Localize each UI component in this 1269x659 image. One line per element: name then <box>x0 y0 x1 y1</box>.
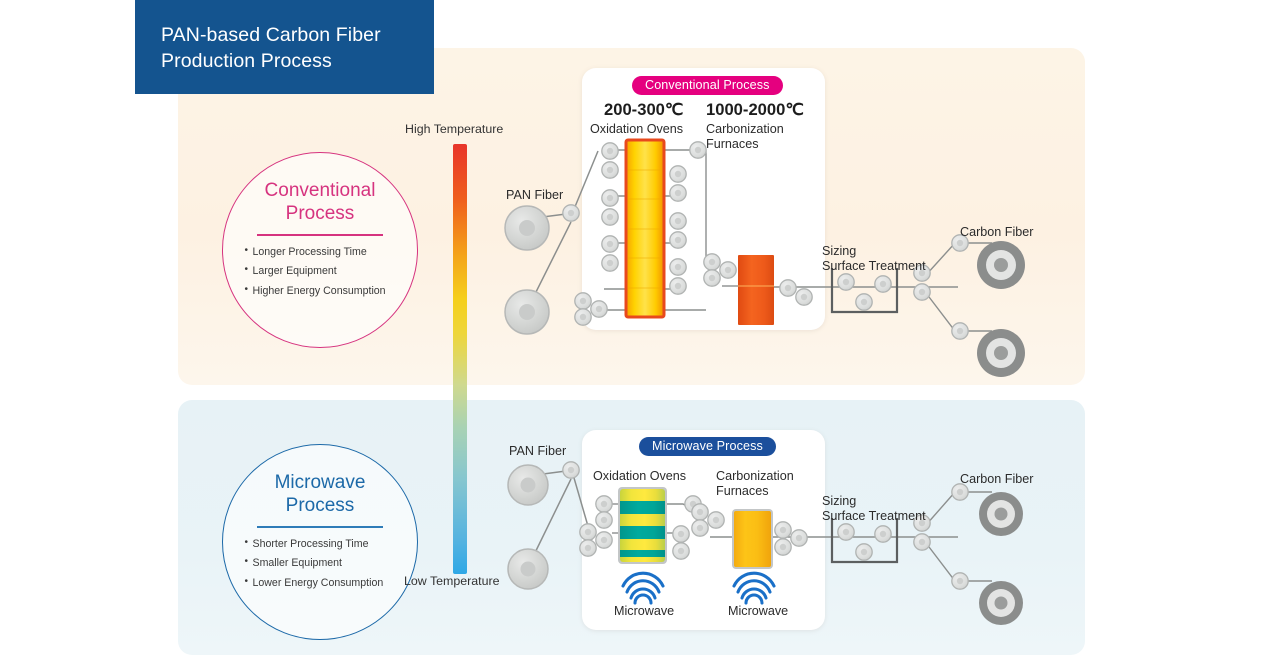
label-sizing-surface-treatment-conventional: Sizing Surface Treatment <box>822 244 926 274</box>
label-carbonization-furnaces-conventional: Carbonization Furnaces <box>706 122 784 152</box>
label-microwave-source-2: Microwave <box>728 604 788 619</box>
badge-conventional-process: Conventional Process <box>632 76 783 95</box>
list-item: Longer Processing Time <box>245 247 403 258</box>
low-temperature-label: Low Temperature <box>404 574 500 588</box>
oxidation-temperature-conventional: 200-300℃ <box>604 100 684 120</box>
list-item: Higher Energy Consumption <box>245 286 403 297</box>
list-item: Lower Energy Consumption <box>245 578 403 589</box>
label-pan-fiber-microwave: PAN Fiber <box>509 444 566 459</box>
summary-circle-conventional: Conventional Process Longer Processing T… <box>222 152 418 348</box>
summary-circle-microwave-title: Microwave Process <box>275 471 366 517</box>
diagram-canvas: PAN-based Carbon Fiber Production Proces… <box>0 0 1269 659</box>
label-sizing-surface-treatment-microwave: Sizing Surface Treatment <box>822 494 926 524</box>
page-title-line1: PAN-based Carbon Fiber <box>161 22 408 48</box>
page-title-line2: Production Process <box>161 48 408 74</box>
divider-conventional <box>257 234 383 235</box>
label-oxidation-ovens-microwave: Oxidation Ovens <box>593 469 686 484</box>
bullet-list-microwave: Shorter Processing Time Smaller Equipmen… <box>238 539 403 598</box>
temperature-gradient-bar <box>453 144 467 574</box>
list-item: Larger Equipment <box>245 266 403 277</box>
label-carbonization-furnaces-microwave: Carbonization Furnaces <box>716 469 794 499</box>
high-temperature-label: High Temperature <box>405 122 503 136</box>
badge-microwave-process: Microwave Process <box>639 437 776 456</box>
list-item: Shorter Processing Time <box>245 539 403 550</box>
label-carbon-fiber-microwave: Carbon Fiber <box>960 472 1034 487</box>
summary-circle-microwave: Microwave Process Shorter Processing Tim… <box>222 444 418 640</box>
card-microwave-process <box>582 430 825 630</box>
carbonization-temperature-conventional: 1000-2000℃ <box>706 100 804 120</box>
label-microwave-source-1: Microwave <box>614 604 674 619</box>
summary-circle-conventional-title: Conventional Process <box>265 179 376 225</box>
label-carbon-fiber-conventional: Carbon Fiber <box>960 225 1034 240</box>
page-title: PAN-based Carbon Fiber Production Proces… <box>135 0 434 94</box>
bullet-list-conventional: Longer Processing Time Larger Equipment … <box>238 247 403 306</box>
divider-microwave <box>257 526 383 527</box>
label-oxidation-ovens-conventional: Oxidation Ovens <box>590 122 683 137</box>
label-pan-fiber-conventional: PAN Fiber <box>506 188 563 203</box>
list-item: Smaller Equipment <box>245 558 403 569</box>
